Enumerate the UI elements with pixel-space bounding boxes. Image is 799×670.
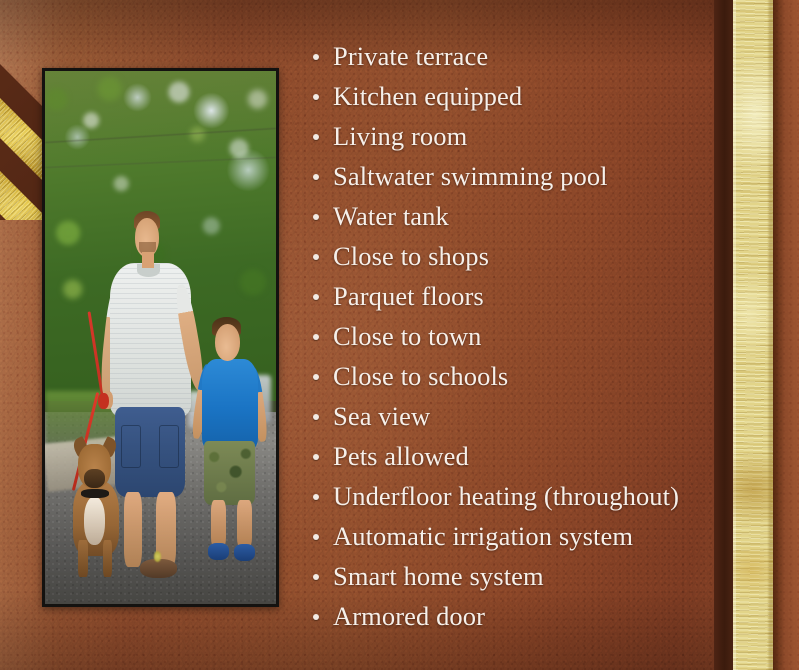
list-item: Sea view [313, 396, 723, 436]
list-item-label: Kitchen equipped [333, 81, 522, 111]
right-edge-grain [773, 0, 799, 670]
list-item: Private terrace [313, 36, 723, 76]
list-item: Living room [313, 116, 723, 156]
list-item: Close to shops [313, 236, 723, 276]
list-item-label: Saltwater swimming pool [333, 161, 608, 191]
slide-canvas: Private terrace Kitchen equipped Living … [0, 0, 799, 670]
feature-list: Private terrace Kitchen equipped Living … [313, 36, 723, 636]
list-item-label: Close to schools [333, 361, 508, 391]
list-item: Kitchen equipped [313, 76, 723, 116]
list-item-label: Smart home system [333, 561, 544, 591]
list-item: Parquet floors [313, 276, 723, 316]
gold-vertical-band-icon [733, 0, 773, 670]
list-item: Close to schools [313, 356, 723, 396]
list-item-label: Underfloor heating (throughout) [333, 481, 679, 511]
list-item-label: Sea view [333, 401, 430, 431]
photo-frame [42, 68, 279, 607]
photo-image [45, 71, 276, 604]
photo-shading [45, 71, 276, 604]
list-item: Saltwater swimming pool [313, 156, 723, 196]
right-band-right-edge [773, 0, 799, 670]
list-item-label: Living room [333, 121, 467, 151]
list-item: Smart home system [313, 556, 723, 596]
list-item-label: Automatic irrigation system [333, 521, 633, 551]
list-item-label: Parquet floors [333, 281, 484, 311]
list-item: Underfloor heating (throughout) [313, 476, 723, 516]
list-item-label: Close to shops [333, 241, 489, 271]
list-item: Close to town [313, 316, 723, 356]
list-item-label: Private terrace [333, 41, 488, 71]
list-item: Water tank [313, 196, 723, 236]
list-item: Automatic irrigation system [313, 516, 723, 556]
list-item: Armored door [313, 596, 723, 636]
list-item-label: Pets allowed [333, 441, 469, 471]
list-item-label: Water tank [333, 201, 449, 231]
list-item: Pets allowed [313, 436, 723, 476]
list-item-label: Armored door [333, 601, 485, 631]
list-item-label: Close to town [333, 321, 482, 351]
